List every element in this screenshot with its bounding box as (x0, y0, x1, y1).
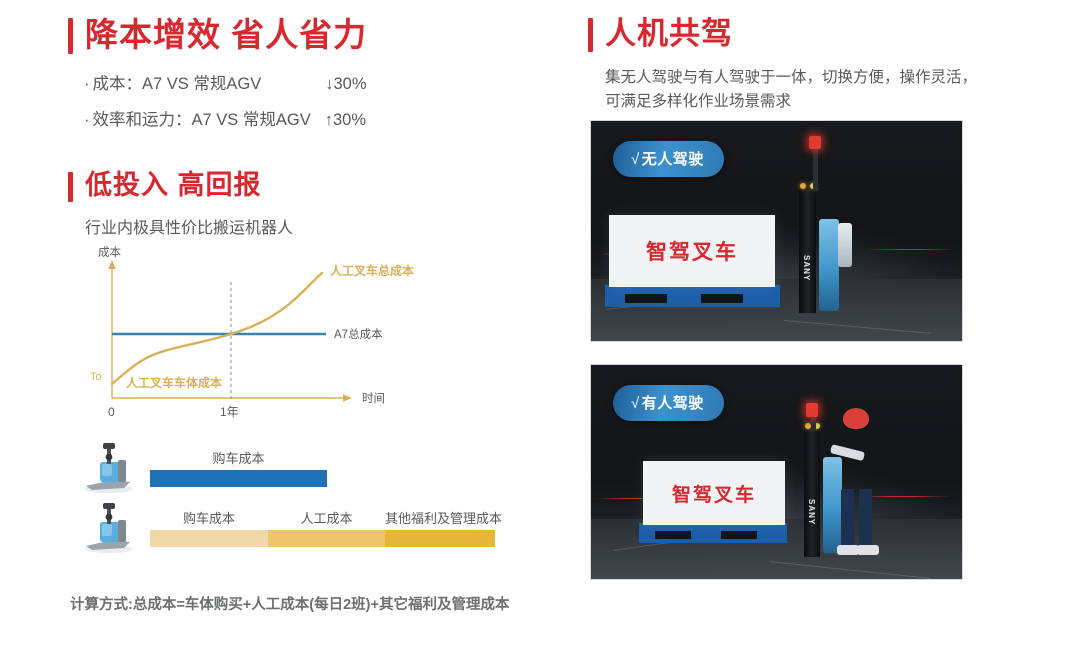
badge-label: 无人驾驶 (642, 151, 704, 168)
bullet-value: ↑30% (325, 111, 366, 130)
forklift-icon (78, 502, 140, 556)
status-badge-manned: √有人驾驶 (613, 385, 724, 421)
section2-heading-text: 低投入 高回报 (85, 172, 262, 199)
bullet-label: 成本：A7 VS 常规AGV (93, 70, 262, 94)
x-tick-0: 0 (108, 405, 115, 419)
series-label-a7-total: A7总成本 (334, 327, 383, 341)
section2-subtitle: 行业内极具性价比搬运机器人 (85, 214, 293, 238)
bullet-dot-icon: · (84, 75, 90, 94)
pallet-notch (701, 294, 743, 303)
forklift-body (819, 219, 839, 311)
forklift-handle (838, 223, 852, 267)
heading-accent-bar (68, 18, 73, 54)
section1-bullet-list: · 成本：A7 VS 常规AGV ↓30% · 效率和运力：A7 VS 常规AG… (84, 70, 367, 130)
bar-manual-total-cost (150, 530, 495, 547)
series-label-manual-body: 人工叉车车体成本 (126, 375, 222, 390)
section3-heading: 人机共驾 (588, 18, 1005, 52)
section3-subtitle-line1: 集无人驾驶与有人驾驶于一体，切换方便，操作灵活， (605, 66, 1005, 90)
brand-label: SANY (807, 499, 816, 525)
bullet-value: ↓30% (325, 75, 366, 94)
heading-accent-bar (588, 18, 593, 52)
section2-heading: 低投入 高回报 (68, 172, 293, 202)
y-axis-label: 成本 (98, 246, 121, 259)
left-column: 降本增效 省人省力 · 成本：A7 VS 常规AGV ↓30% · 效率和运力：… (0, 0, 540, 661)
bar-segment-label: 购车成本 (150, 448, 327, 467)
bar-segment-label: 购车成本 (150, 508, 268, 527)
section-human-machine: 人机共驾 集无人驾驶与有人驾驶于一体，切换方便，操作灵活， 可满足多样化作业场景… (588, 18, 1005, 114)
bar-purchase-cost-a7 (150, 470, 327, 487)
section3-subtitle-line2: 可满足多样化作业场景需求 (605, 90, 1005, 114)
section-low-investment: 低投入 高回报 行业内极具性价比搬运机器人 (68, 172, 293, 238)
cost-comparison-line-chart: 成本 时间 人工叉车总成本 A7总成本 人工叉车车体成本 To 0 1年 (78, 246, 418, 421)
status-badge-autonomous: √无人驾驶 (613, 141, 724, 177)
heading-accent-bar (68, 172, 73, 202)
list-item: · 成本：A7 VS 常规AGV ↓30% (84, 70, 367, 94)
origin-label: To (90, 371, 102, 383)
check-icon: √ (631, 151, 640, 168)
series-label-manual-total: 人工叉车总成本 (330, 263, 414, 278)
laser-line (866, 249, 955, 251)
beacon-pole (811, 415, 816, 429)
section-cost-efficiency: 降本增效 省人省力 · 成本：A7 VS 常规AGV ↓30% · 效率和运力：… (68, 18, 367, 142)
beacon-pole (813, 145, 818, 191)
cost-breakdown-bar-chart: 购车成本 购车成本 人工成本 其他福利及管理成本 (70, 440, 530, 565)
indicator-light (800, 183, 806, 189)
warning-beacon (809, 136, 821, 149)
badge-label: 有人驾驶 (642, 395, 704, 412)
operator-shoe (837, 545, 859, 555)
section1-heading: 降本增效 省人省力 (68, 18, 367, 54)
brand-label: SANY (802, 255, 811, 281)
check-icon: √ (631, 395, 640, 412)
x-axis-label: 时间 (362, 392, 385, 405)
signboard-text: 智驾叉车 (646, 236, 738, 266)
bar-segment-benefits (385, 530, 495, 547)
signboard: 智驾叉车 (609, 215, 775, 287)
forklift-mast (804, 427, 820, 557)
operator-leg (841, 489, 854, 547)
slide-page: 降本增效 省人省力 · 成本：A7 VS 常规AGV ↓30% · 效率和运力：… (0, 0, 1080, 661)
pallet-notch (625, 294, 667, 303)
formula-caption: 计算方式:总成本=车体购买+人工成本(每日2班)+其它福利及管理成本 (70, 593, 509, 614)
bar-segment-purchase (150, 530, 268, 547)
signboard: 智驾叉车 (643, 461, 785, 525)
section1-heading-text: 降本增效 省人省力 (85, 18, 367, 51)
x-tick-1: 1年 (220, 405, 239, 419)
bar-segment-labor (268, 530, 385, 547)
section3-subtitle: 集无人驾驶与有人驾驶于一体，切换方便，操作灵活， 可满足多样化作业场景需求 (605, 66, 1005, 114)
photo-autonomous-driving: √无人驾驶 智驾叉车 SANY (590, 120, 963, 342)
forklift-mast (799, 189, 816, 313)
operator-shoe (857, 545, 879, 555)
list-item: · 效率和运力：A7 VS 常规AGV ↑30% (84, 106, 367, 130)
operator-torso (837, 427, 875, 493)
right-column: 人机共驾 集无人驾驶与有人驾驶于一体，切换方便，操作灵活， 可满足多样化作业场景… (540, 0, 1080, 661)
bullet-dot-icon: · (84, 111, 90, 130)
operator-helmet (843, 408, 869, 429)
warning-beacon (806, 403, 818, 417)
bar-segment-label: 人工成本 (268, 508, 385, 527)
pallet-notch (721, 531, 757, 539)
forklift-icon (78, 442, 140, 496)
bullet-label: 效率和运力：A7 VS 常规AGV (93, 106, 311, 130)
signboard-text: 智驾叉车 (672, 480, 756, 507)
photo-manned-driving: √有人驾驶 智驾叉车 SANY (590, 364, 963, 580)
section3-heading-text: 人机共驾 (605, 18, 733, 49)
bar-segment-label: 其他福利及管理成本 (385, 508, 495, 527)
pallet-notch (655, 531, 691, 539)
operator-leg (859, 489, 872, 547)
